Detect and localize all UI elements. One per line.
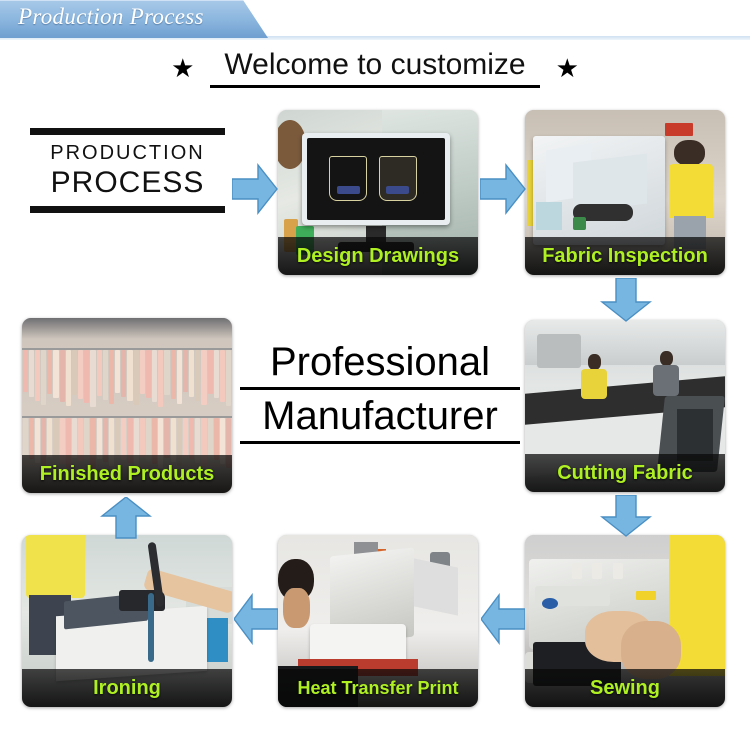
arrow-to-heat-transfer <box>481 593 525 645</box>
garment-item <box>164 418 169 458</box>
garment-item <box>60 350 65 402</box>
garment-item <box>140 350 145 395</box>
garment-item <box>121 418 126 460</box>
header-bar: Production Process <box>0 0 750 40</box>
garment-item <box>195 350 200 401</box>
garment-item <box>53 418 58 461</box>
garment-item <box>164 350 169 396</box>
page-title: Production Process <box>18 4 204 30</box>
garment-item <box>66 350 71 407</box>
production-title-line1: PRODUCTION <box>30 135 225 165</box>
card-design-drawings[interactable]: Design Drawings <box>278 110 478 275</box>
arrow-to-finished-products <box>100 497 152 539</box>
garment-item <box>35 350 40 401</box>
garment-item <box>201 350 206 405</box>
garment-item <box>29 350 34 397</box>
garment-item <box>183 350 188 393</box>
card-sewing[interactable]: Sewing <box>525 535 725 707</box>
title-rule-top <box>30 128 225 135</box>
card-label-finished-products: Finished Products <box>22 455 232 493</box>
card-label-ironing: Ironing <box>22 669 232 707</box>
garment-item <box>152 350 157 403</box>
card-ironing[interactable]: Ironing <box>22 535 232 707</box>
card-label-heat-transfer-print: Heat Transfer Print <box>278 669 478 707</box>
card-fabric-inspection[interactable]: Fabric Inspection <box>525 110 725 275</box>
garment-item <box>84 350 89 404</box>
garment-item <box>23 350 28 393</box>
garment-item <box>226 350 231 407</box>
garment-item <box>47 418 52 457</box>
garment-item <box>171 350 176 400</box>
star-icon-right: ★ <box>556 55 579 81</box>
garment-item <box>97 418 102 459</box>
headline-line2: Manufacturer <box>240 394 520 444</box>
garment-item <box>47 350 52 394</box>
garment-item <box>53 350 58 398</box>
garment-item <box>90 350 95 408</box>
card-label-design-drawings: Design Drawings <box>278 237 478 275</box>
garment-item <box>214 418 219 461</box>
star-icon-left: ★ <box>171 55 194 81</box>
garment-item <box>183 418 188 456</box>
garment-item <box>158 350 163 407</box>
arrow-to-fabric-inspection <box>480 163 526 215</box>
garment-item <box>72 418 77 458</box>
garment-item <box>146 350 151 399</box>
garment-item <box>214 350 219 398</box>
garment-item <box>208 418 213 457</box>
welcome-banner: ★ Welcome to customize ★ <box>0 44 750 92</box>
garment-item <box>23 418 28 456</box>
title-rule-bottom <box>30 206 225 213</box>
arrow-to-cutting-fabric <box>600 278 652 322</box>
card-finished-products[interactable]: Finished Products <box>22 318 232 493</box>
garment-item <box>29 418 34 459</box>
center-headline: Professional Manufacturer <box>240 340 520 444</box>
card-heat-transfer-print[interactable]: Heat Transfer Print <box>278 535 478 707</box>
garment-item <box>140 418 145 457</box>
production-process-title-block: PRODUCTION PROCESS <box>30 128 225 213</box>
card-cutting-fabric[interactable]: Cutting Fabric <box>525 320 725 492</box>
arrow-to-ironing <box>234 593 278 645</box>
card-label-sewing: Sewing <box>525 669 725 707</box>
card-label-cutting-fabric: Cutting Fabric <box>525 454 725 492</box>
garment-item <box>208 350 213 394</box>
garment-item <box>121 350 126 398</box>
headline-line1: Professional <box>240 340 520 390</box>
production-title-line2: PROCESS <box>30 165 225 206</box>
garment-item <box>72 350 77 395</box>
garment-item <box>97 350 102 396</box>
garment-item <box>189 350 194 397</box>
arrow-to-sewing <box>600 495 652 537</box>
garment-item <box>127 350 132 402</box>
garment-item <box>41 350 46 405</box>
garment-item <box>109 350 114 405</box>
garment-item <box>115 418 120 456</box>
garment-item <box>115 350 120 393</box>
arrow-to-design-drawings <box>232 163 278 215</box>
welcome-heading: Welcome to customize <box>210 48 539 88</box>
garment-item <box>189 418 194 459</box>
garment-item <box>220 350 225 402</box>
card-label-fabric-inspection: Fabric Inspection <box>525 237 725 275</box>
garment-item <box>134 350 139 406</box>
garment-item <box>103 350 108 401</box>
garment-item <box>78 350 83 399</box>
garment-item <box>177 350 182 404</box>
